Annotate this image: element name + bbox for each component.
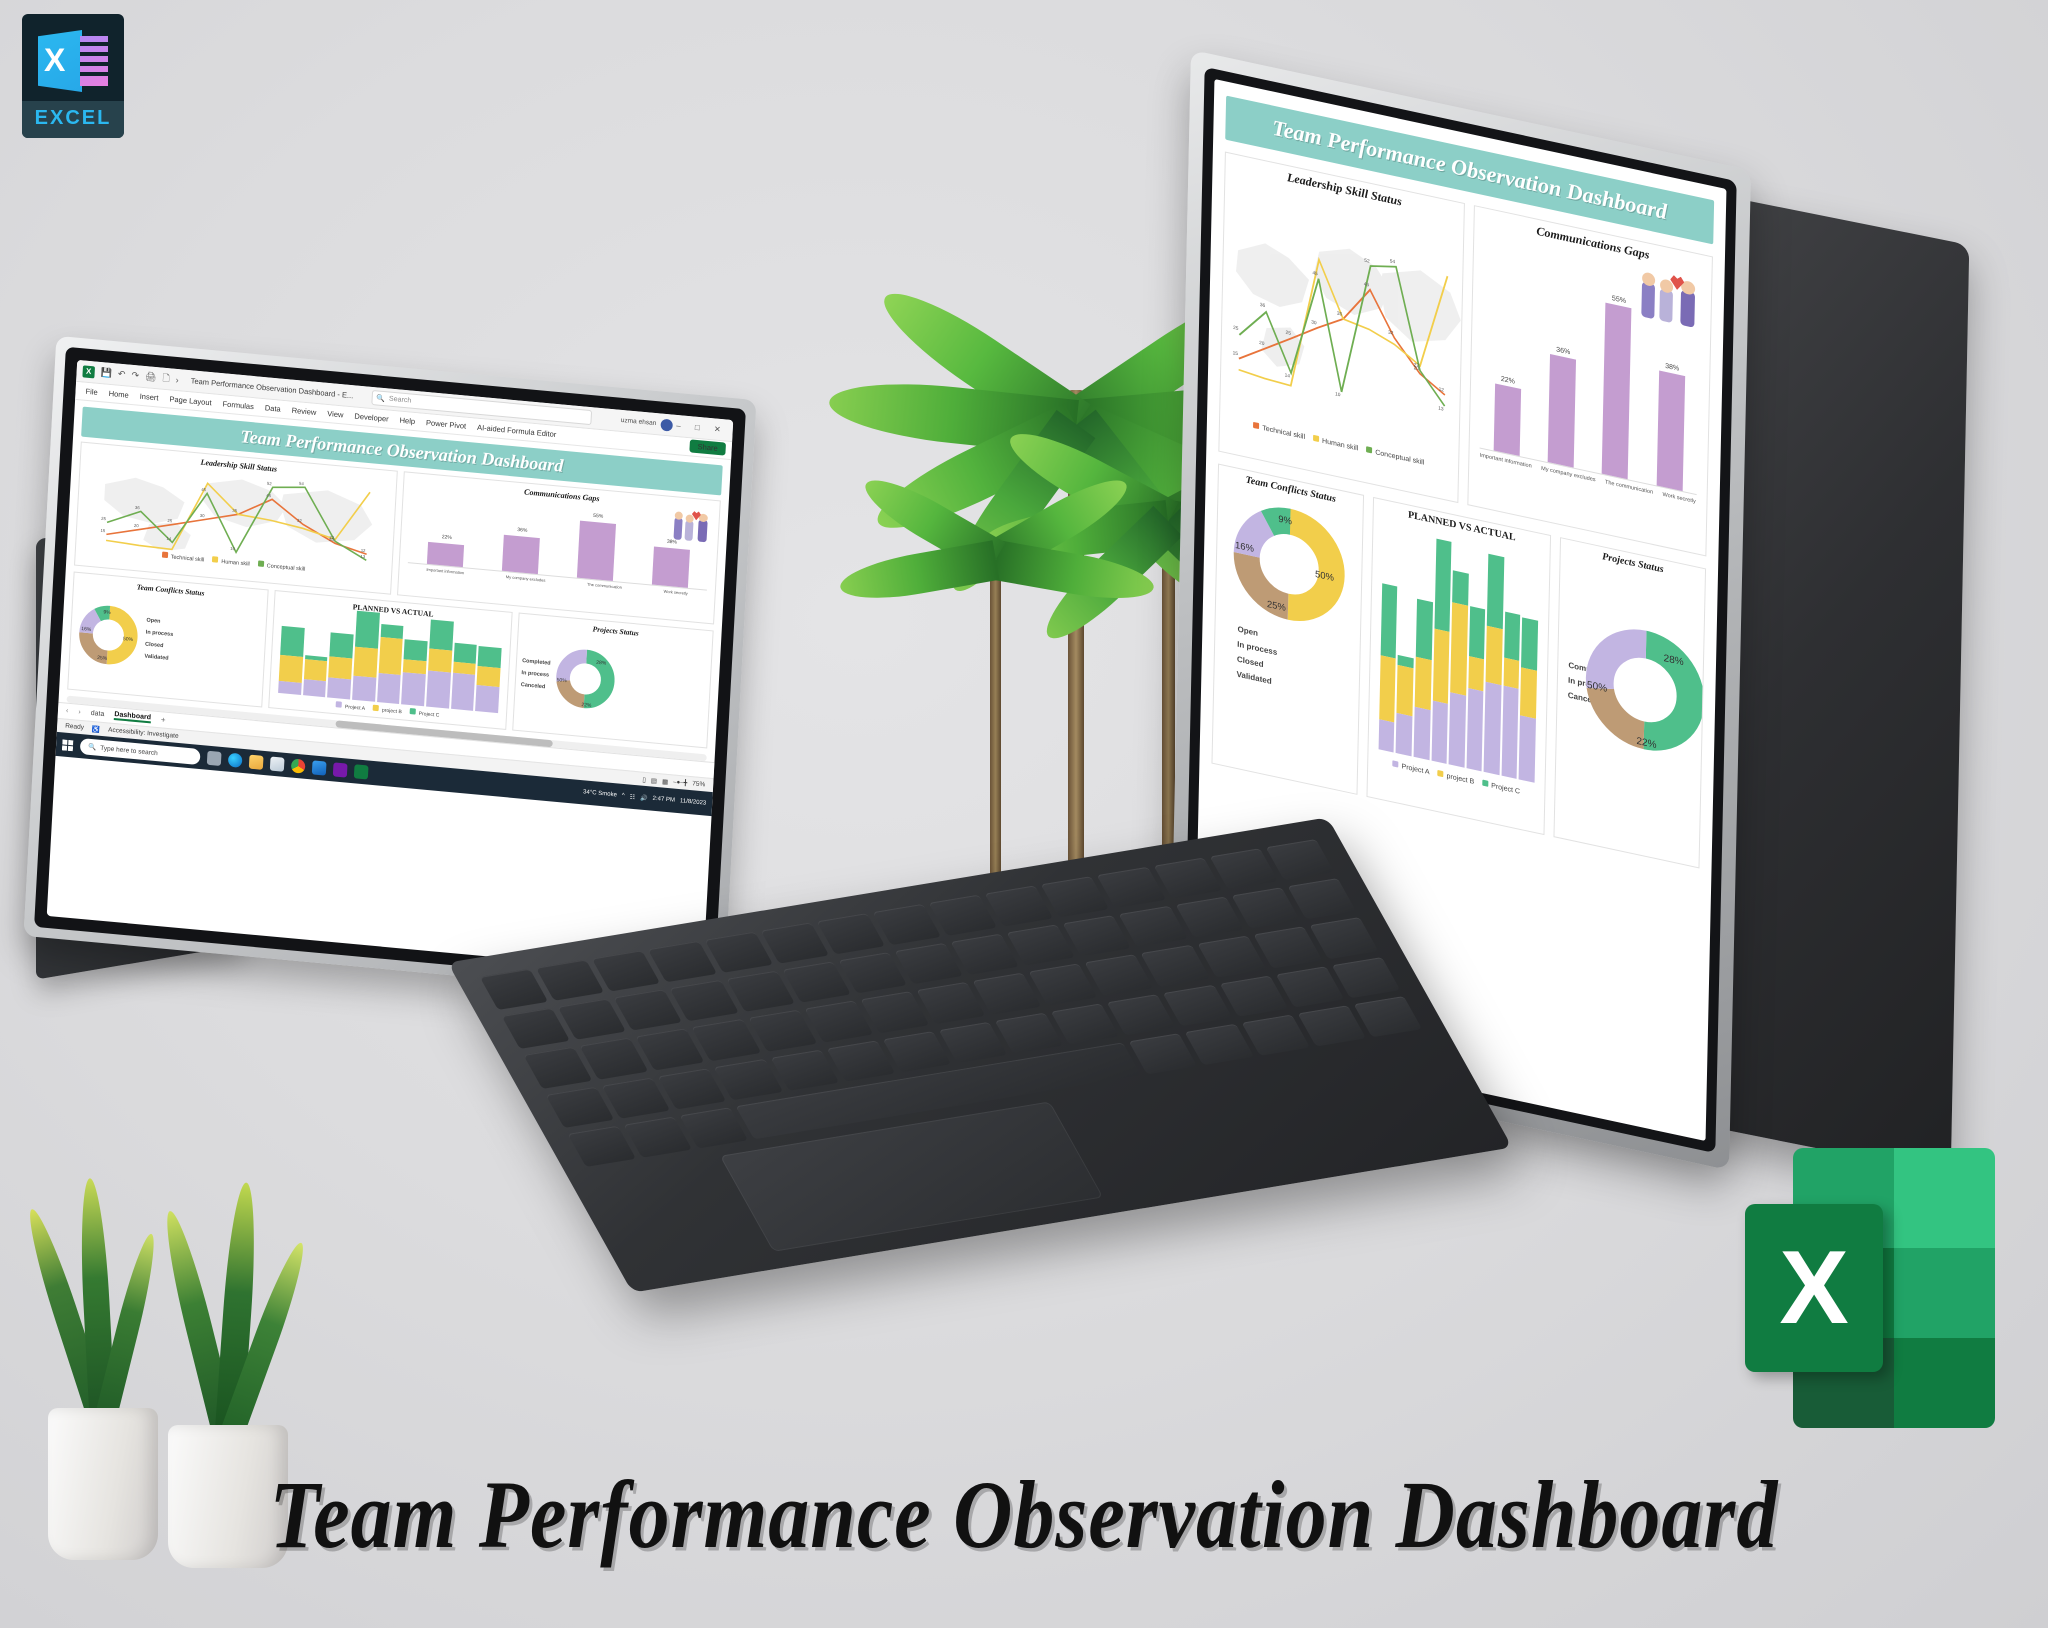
view-normal-icon[interactable]: ▯ bbox=[642, 775, 646, 783]
bar-work-secretly: 38% bbox=[652, 546, 690, 588]
search-placeholder: Search bbox=[389, 396, 412, 405]
svg-text:54: 54 bbox=[299, 481, 305, 486]
clock-date[interactable]: 11/8/2023 bbox=[680, 798, 707, 806]
legend-item-completed: Completed bbox=[522, 658, 551, 667]
save-icon[interactable]: 💾 bbox=[100, 367, 112, 379]
bar-important-information: 22% bbox=[427, 542, 464, 568]
conflicts-legend: Open In process Closed Validated bbox=[144, 617, 174, 662]
zoom-slider[interactable]: –●–╋ bbox=[673, 779, 687, 787]
svg-text:10: 10 bbox=[1335, 391, 1341, 398]
view-pagebreak-icon[interactable]: ▦ bbox=[662, 777, 669, 786]
sheet-nav-prev-icon[interactable]: ‹ bbox=[66, 708, 69, 715]
status-ready: Ready bbox=[65, 723, 84, 732]
bar-value: 22% bbox=[442, 534, 452, 541]
bar-work-secretly: 38% bbox=[1656, 370, 1685, 491]
leadership-line-plot: 152025 303545 322012 253614 451052 54221… bbox=[1220, 172, 1463, 461]
stacked-column bbox=[1501, 612, 1520, 779]
tray-chevron-icon[interactable]: ^ bbox=[622, 793, 625, 799]
network-icon[interactable]: ☷ bbox=[629, 793, 635, 800]
stacked-column bbox=[451, 643, 477, 711]
svg-text:30: 30 bbox=[1311, 319, 1317, 326]
svg-text:54: 54 bbox=[1390, 258, 1396, 265]
bar-value: 38% bbox=[667, 538, 677, 545]
axis-label: The communication bbox=[587, 582, 622, 590]
sheet-tab-dashboard[interactable]: Dashboard bbox=[114, 711, 151, 723]
add-sheet-button[interactable]: + bbox=[161, 715, 166, 724]
projects-donut: 50%22%28% bbox=[1581, 613, 1706, 766]
svg-text:15: 15 bbox=[100, 528, 106, 533]
svg-text:25: 25 bbox=[1233, 325, 1239, 332]
laptop-bezel: X 💾 ↶ ↷ 🖨 🗋 › Team Performance Observati… bbox=[24, 336, 757, 1000]
chart-communications-gaps: Communications Gaps 22% 36% 55% bbox=[1467, 205, 1713, 556]
bar-value: 55% bbox=[1612, 295, 1626, 305]
taskbar-tray[interactable]: 34°C Smoke ^ ☷ 🔊 2:47 PM 11/8/2023 bbox=[583, 789, 706, 807]
legend-item-project-b: project B bbox=[373, 705, 402, 716]
windows-start-icon[interactable] bbox=[62, 739, 74, 751]
search-icon: 🔍 bbox=[376, 394, 385, 403]
taskbar-search-placeholder: Type here to search bbox=[100, 744, 158, 756]
legend-item-in-process: In process bbox=[146, 629, 174, 638]
mail-icon[interactable] bbox=[312, 760, 327, 775]
legend-item-conceptual-skill: Conceptual skill bbox=[258, 560, 306, 572]
legend-item-in-process: In process bbox=[521, 670, 550, 679]
bar-value: 38% bbox=[1665, 362, 1679, 372]
conflicts-donut: 50%25% 16%9% bbox=[1229, 493, 1350, 636]
legend-item-project-b: project B bbox=[1437, 770, 1474, 786]
stacked-column bbox=[352, 611, 380, 702]
clock-time[interactable]: 2:47 PM bbox=[652, 796, 675, 804]
planned-actual-bars bbox=[1378, 525, 1539, 783]
svg-text:35: 35 bbox=[1337, 311, 1343, 318]
chart-team-conflicts-status: Team Conflicts Status 50%25% 16%9% Open bbox=[1211, 464, 1363, 795]
ribbon-tab-formulas[interactable]: Formulas bbox=[222, 399, 254, 411]
legend-item-closed: Closed bbox=[145, 641, 173, 650]
legend-item-canceled: Canceled bbox=[521, 682, 550, 691]
stacked-column bbox=[1449, 570, 1469, 767]
chart-leadership-skill-status: Leadership Skill Status 152025 bbox=[1218, 152, 1464, 503]
explorer-icon[interactable] bbox=[249, 755, 264, 770]
bar-value: 36% bbox=[1556, 346, 1570, 356]
legend-item-technical-skill: Technical skill bbox=[161, 552, 204, 564]
task-view-icon[interactable] bbox=[207, 751, 222, 766]
svg-text:30: 30 bbox=[200, 513, 206, 518]
ribbon-tab-insert[interactable]: Insert bbox=[139, 392, 158, 403]
ribbon-tab-review[interactable]: Review bbox=[291, 406, 316, 417]
excel-logo-x: X bbox=[1745, 1204, 1883, 1372]
bar-the-communication: 55% bbox=[1602, 303, 1632, 480]
laptop-screen: X 💾 ↶ ↷ 🖨 🗋 › Team Performance Observati… bbox=[47, 360, 734, 976]
svg-text:13: 13 bbox=[360, 554, 366, 559]
view-pagelayout-icon[interactable]: ▤ bbox=[651, 776, 658, 785]
ribbon-tab-developer[interactable]: Developer bbox=[354, 411, 389, 423]
chart-planned-vs-actual: PLANNED VS ACTUAL Project A bbox=[1366, 497, 1551, 835]
legend-item-project-c: Project C bbox=[1482, 780, 1520, 796]
legend-item-project-c: Project C bbox=[410, 708, 440, 719]
sheet-nav-next-icon[interactable]: › bbox=[78, 709, 81, 716]
stacked-column bbox=[377, 624, 404, 704]
stacked-column bbox=[303, 655, 328, 697]
legend-item-project-a: Project A bbox=[336, 701, 365, 712]
legend-item-project-a: Project A bbox=[1392, 760, 1429, 776]
ribbon-tab-page-layout[interactable]: Page Layout bbox=[169, 394, 212, 407]
bar-value: 36% bbox=[517, 527, 527, 534]
ribbon-tab-ai-formula-editor[interactable]: AI-aided Formula Editor bbox=[477, 423, 557, 439]
svg-text:52: 52 bbox=[1364, 258, 1370, 265]
window-controls[interactable]: – □ ✕ bbox=[676, 421, 727, 435]
ribbon-tab-file[interactable]: File bbox=[85, 387, 98, 397]
excel-logo: X bbox=[1745, 1148, 1995, 1428]
svg-text:9%: 9% bbox=[103, 609, 111, 616]
conflicts-legend: Open In process Closed Validated bbox=[1236, 624, 1359, 704]
svg-text:12: 12 bbox=[361, 548, 367, 553]
new-doc-icon[interactable]: 🗋 bbox=[162, 370, 170, 387]
excel-icon[interactable] bbox=[354, 764, 369, 779]
sheet-tab-data[interactable]: data bbox=[91, 710, 105, 718]
search-icon: 🔍 bbox=[88, 743, 97, 752]
weather-status[interactable]: 34°C Smoke bbox=[583, 789, 617, 798]
excel-app-icon: X bbox=[82, 365, 95, 378]
bar-important-information: 22% bbox=[1493, 383, 1521, 456]
chart-team-conflicts-status: Team Conflicts Status 50%25% 16%9% bbox=[67, 572, 268, 708]
ribbon-tab-power-pivot[interactable]: Power Pivot bbox=[426, 418, 467, 431]
svg-text:12: 12 bbox=[1439, 386, 1445, 393]
accessibility-icon[interactable]: ♿ bbox=[92, 725, 101, 734]
chart-projects-status: Projects Status Completed In process Can… bbox=[1554, 537, 1706, 868]
conflicts-donut: 50%25% 16%9% bbox=[76, 601, 141, 669]
svg-text:52: 52 bbox=[267, 481, 273, 486]
planned-actual-bars bbox=[278, 609, 503, 713]
stacked-column bbox=[1466, 606, 1485, 771]
account-name: uzma ehsan bbox=[621, 417, 657, 427]
excel-badge-x: X bbox=[44, 44, 65, 76]
stacked-column bbox=[1396, 655, 1414, 756]
bar-my-company-excludes: 36% bbox=[1548, 354, 1576, 467]
bar-my-company-excludes: 36% bbox=[502, 535, 540, 574]
ribbon-tab-data[interactable]: Data bbox=[265, 403, 281, 413]
chart-projects-status: Projects Status Completed In process Can… bbox=[512, 613, 713, 749]
ribbon-tab-home[interactable]: Home bbox=[108, 389, 129, 400]
zoom-level[interactable]: 75% bbox=[692, 780, 705, 788]
stacked-column bbox=[1414, 599, 1433, 760]
legend-item-validated: Validated bbox=[144, 653, 172, 662]
bar-value: 22% bbox=[1501, 376, 1515, 386]
svg-text:15: 15 bbox=[1233, 350, 1239, 357]
customize-qat-icon[interactable]: › bbox=[175, 374, 179, 384]
svg-text:25: 25 bbox=[167, 518, 173, 523]
projects-donut: 50%22%28% bbox=[552, 645, 617, 713]
page-caption: Team Performance Observation Dashboard bbox=[0, 1460, 2048, 1571]
ribbon-tab-help[interactable]: Help bbox=[399, 416, 415, 426]
edge-icon[interactable] bbox=[228, 753, 243, 768]
svg-text:20: 20 bbox=[134, 523, 140, 528]
bar-the-communication: 55% bbox=[577, 521, 616, 581]
projects-legend: Completed In process Canceled bbox=[521, 658, 551, 691]
chart-planned-vs-actual: PLANNED VS ACTUAL Project A bbox=[268, 590, 513, 730]
stacked-column bbox=[1378, 583, 1397, 752]
volume-icon[interactable]: 🔊 bbox=[640, 794, 648, 802]
undo-icon[interactable]: ↶ bbox=[118, 369, 126, 381]
share-button[interactable]: Share bbox=[689, 439, 726, 455]
people-illustration bbox=[671, 509, 713, 547]
print-icon[interactable]: 🖨 bbox=[145, 371, 157, 383]
svg-text:14: 14 bbox=[1285, 372, 1291, 379]
stacked-column bbox=[401, 639, 427, 706]
legend-item-open: Open bbox=[146, 617, 174, 626]
stacked-column bbox=[327, 632, 353, 699]
legend-item-human-skill: Human skill bbox=[212, 556, 250, 567]
svg-text:32: 32 bbox=[1388, 329, 1394, 336]
avatar[interactable] bbox=[660, 418, 673, 431]
axis-label: Important information bbox=[426, 567, 464, 575]
svg-text:25: 25 bbox=[101, 516, 107, 521]
excel-badge-label: EXCEL bbox=[22, 101, 124, 138]
stacked-column bbox=[278, 626, 304, 695]
bar-value: 55% bbox=[593, 513, 603, 520]
stacked-column bbox=[1519, 617, 1538, 782]
svg-text:13: 13 bbox=[1438, 405, 1444, 412]
store-icon[interactable] bbox=[270, 757, 285, 772]
excel-badge-icon: X bbox=[34, 22, 112, 97]
stacked-column bbox=[426, 619, 453, 708]
onenote-icon[interactable] bbox=[333, 762, 348, 777]
ribbon-tab-view[interactable]: View bbox=[327, 409, 344, 419]
excel-badge: X EXCEL bbox=[22, 14, 124, 138]
chrome-icon[interactable] bbox=[291, 758, 306, 773]
stacked-column bbox=[475, 646, 501, 713]
svg-text:36: 36 bbox=[1260, 302, 1266, 309]
redo-icon[interactable]: ↷ bbox=[131, 370, 139, 382]
axis-label: Work secretly bbox=[663, 589, 687, 596]
axis-label: My company excludes bbox=[506, 574, 546, 583]
